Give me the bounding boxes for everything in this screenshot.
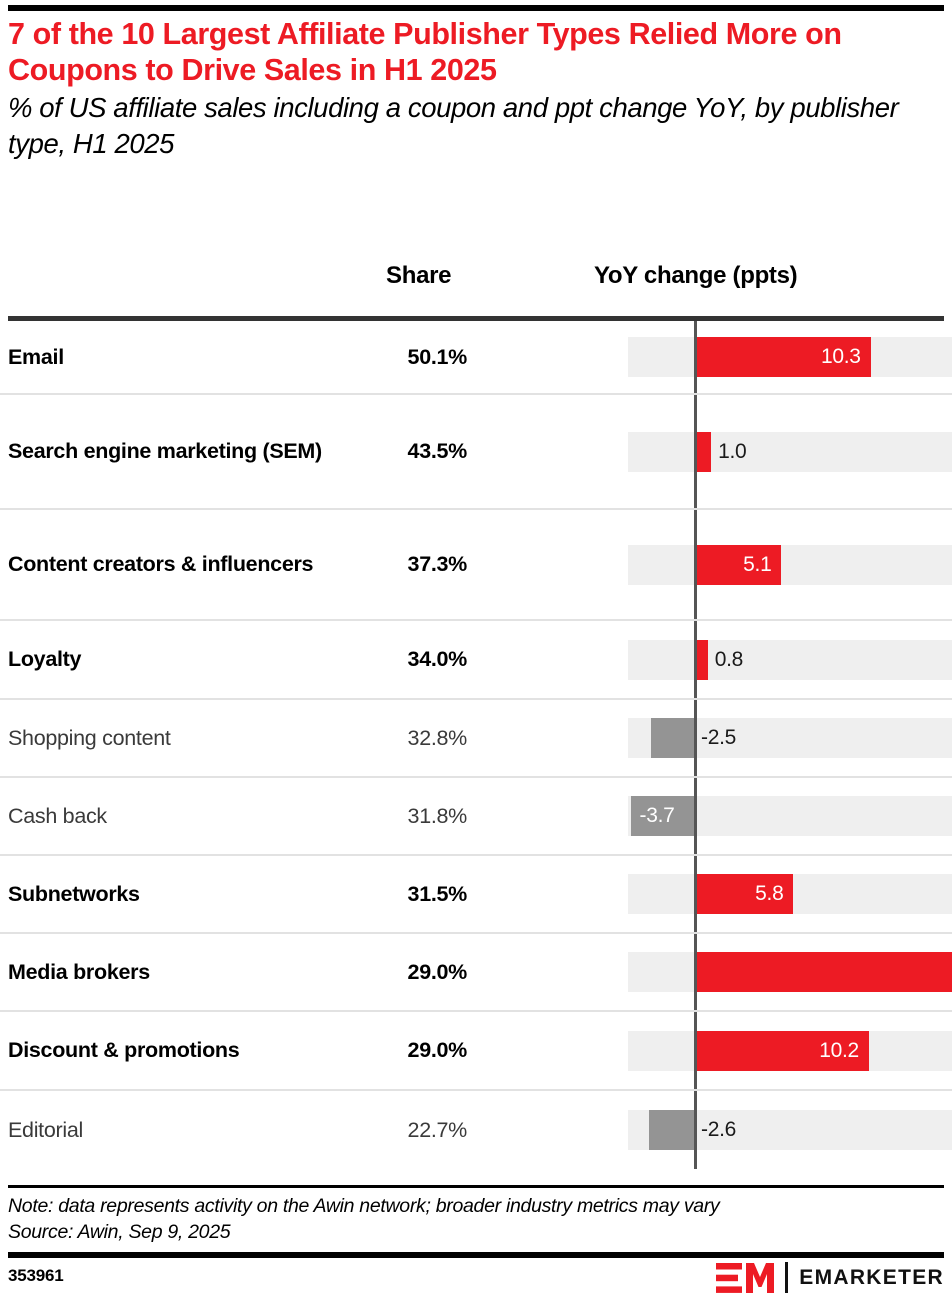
table-row: Cash back31.8%-3.7 — [0, 778, 952, 856]
row-label: Cash back — [0, 804, 378, 829]
chart-sheet: 7 of the 10 Largest Affiliate Publisher … — [0, 0, 952, 1310]
zero-reference-line — [694, 510, 697, 619]
table-row: Discount & promotions29.0%10.2 — [0, 1012, 952, 1091]
row-label: Media brokers — [0, 960, 378, 985]
chart-number: 353961 — [8, 1266, 64, 1286]
bar-value-label: -2.5 — [701, 726, 736, 750]
bar-positive — [694, 952, 952, 992]
bar-value-label: -2.6 — [701, 1118, 736, 1142]
row-bar-cell: -2.5 — [524, 700, 952, 776]
bar-value-label: 1.0 — [718, 440, 746, 464]
row-share-value: 32.8% — [378, 726, 524, 751]
row-bar-cell: -3.7 — [524, 778, 952, 854]
row-bar-cell: 1.0 — [524, 395, 952, 508]
row-bar-cell: 10.3 — [524, 321, 952, 393]
row-bar-cell: -2.6 — [524, 1091, 952, 1169]
row-label: Search engine marketing (SEM) — [0, 439, 378, 464]
row-bar-cell: 5.8 — [524, 856, 952, 932]
table-row: Shopping content32.8%-2.5 — [0, 700, 952, 778]
zero-reference-line — [694, 321, 697, 393]
table-row: Editorial22.7%-2.6 — [0, 1091, 952, 1169]
row-label: Subnetworks — [0, 882, 378, 907]
top-rule — [8, 5, 944, 11]
bar-value-label: 5.1 — [743, 553, 771, 577]
row-share-value: 31.8% — [378, 804, 524, 829]
row-bar-cell: 10.2 — [524, 1012, 952, 1089]
row-bar-cell: 5.1 — [524, 510, 952, 619]
zero-reference-line — [694, 934, 697, 1010]
bar-track — [628, 640, 952, 680]
row-label: Discount & promotions — [0, 1038, 378, 1063]
brand-wordmark: EMARKETER — [799, 1266, 944, 1290]
bar-value-label: 10.2 — [819, 1039, 859, 1063]
bar-negative — [651, 718, 694, 758]
zero-reference-line — [694, 778, 697, 854]
row-label: Editorial — [0, 1118, 378, 1143]
column-header-share: Share — [386, 262, 451, 290]
zero-reference-line — [694, 1091, 697, 1169]
emarketer-logo: EMARKETER — [716, 1262, 944, 1293]
row-bar-cell: 18.8 — [524, 934, 952, 1010]
row-bar-cell: 0.8 — [524, 621, 952, 698]
title-block: 7 of the 10 Largest Affiliate Publisher … — [8, 16, 944, 162]
bar-value-label: 0.8 — [715, 648, 743, 672]
row-share-value: 50.1% — [378, 345, 524, 370]
row-share-value: 29.0% — [378, 960, 524, 985]
row-share-value: 29.0% — [378, 1038, 524, 1063]
row-share-value: 31.5% — [378, 882, 524, 907]
row-share-value: 43.5% — [378, 439, 524, 464]
zero-reference-line — [694, 395, 697, 508]
row-label: Shopping content — [0, 726, 378, 751]
table-row: Subnetworks31.5%5.8 — [0, 856, 952, 934]
zero-reference-line — [694, 1012, 697, 1089]
bar-negative — [649, 1110, 694, 1150]
note-rule — [8, 1185, 944, 1188]
zero-reference-line — [694, 621, 697, 698]
bar-value-label: -3.7 — [640, 804, 675, 828]
table-row: Content creators & influencers37.3%5.1 — [0, 510, 952, 621]
page-subtitle: % of US affiliate sales including a coup… — [8, 90, 944, 162]
row-share-value: 22.7% — [378, 1118, 524, 1143]
note-text: Note: data represents activity on the Aw… — [8, 1193, 944, 1219]
row-share-value: 37.3% — [378, 552, 524, 577]
footer-rule — [8, 1252, 944, 1258]
row-label: Email — [0, 345, 378, 370]
data-table: Email50.1%10.3Search engine marketing (S… — [0, 321, 952, 1169]
em-monogram-icon — [716, 1263, 774, 1293]
zero-reference-line — [694, 856, 697, 932]
page-title: 7 of the 10 Largest Affiliate Publisher … — [8, 16, 944, 88]
logo-divider — [785, 1262, 788, 1293]
table-row: Search engine marketing (SEM)43.5%1.0 — [0, 395, 952, 510]
bar-value-label: 5.8 — [755, 882, 783, 906]
table-row: Email50.1%10.3 — [0, 321, 952, 395]
row-share-value: 34.0% — [378, 647, 524, 672]
bar-track — [628, 432, 952, 472]
bar-value-label: 10.3 — [821, 345, 861, 369]
source-text: Source: Awin, Sep 9, 2025 — [8, 1219, 944, 1245]
zero-reference-line — [694, 700, 697, 776]
table-row: Loyalty34.0%0.8 — [0, 621, 952, 700]
bar-track — [628, 545, 952, 585]
row-label: Content creators & influencers — [0, 552, 378, 577]
row-label: Loyalty — [0, 647, 378, 672]
footnote-block: Note: data represents activity on the Aw… — [8, 1193, 944, 1245]
column-header-yoy-change: YoY change (ppts) — [594, 262, 797, 290]
table-row: Media brokers29.0%18.8 — [0, 934, 952, 1012]
